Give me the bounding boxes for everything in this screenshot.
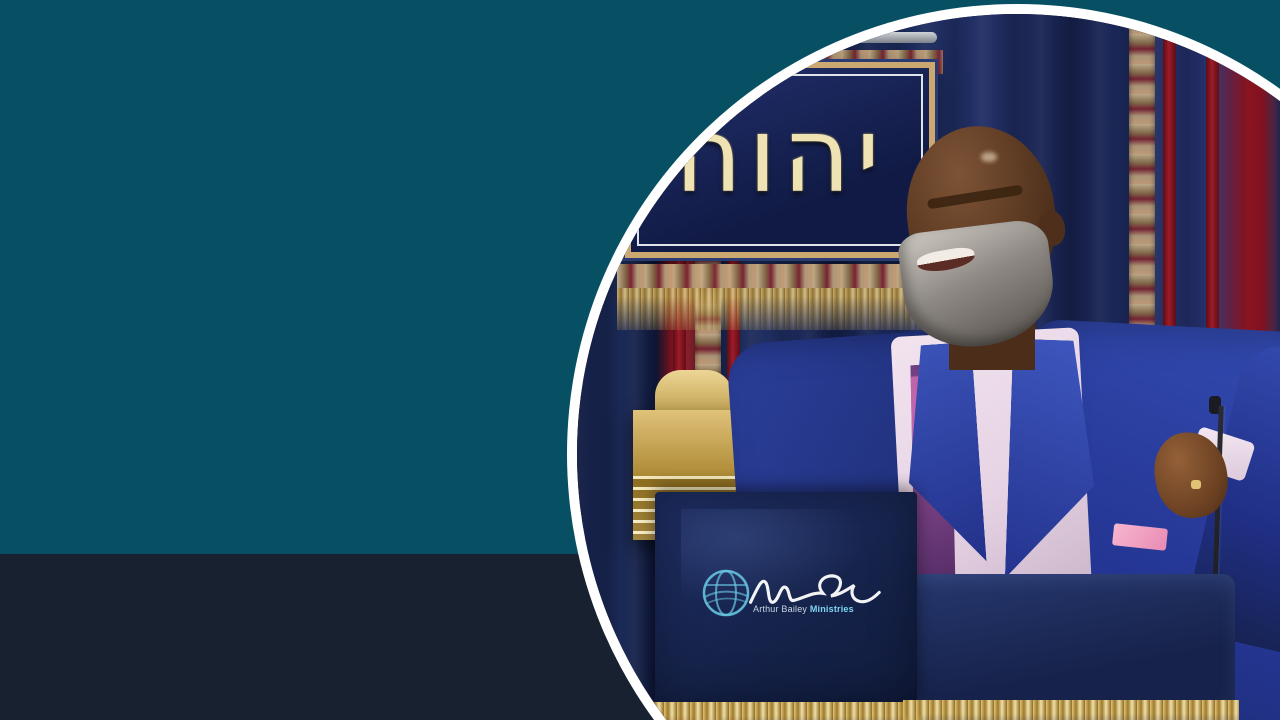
- table-fringe: [903, 700, 1239, 720]
- podium-logo: Arthur Bailey Ministries: [701, 566, 881, 630]
- podium-fringe: [651, 702, 921, 720]
- speaker-photo: יהוה: [577, 14, 1280, 720]
- globe-icon: [701, 568, 751, 618]
- podium-front: Arthur Bailey Ministries: [655, 492, 917, 704]
- podium-table: [905, 574, 1235, 704]
- footer-left-mask: [0, 554, 567, 720]
- finger-ring: [1191, 480, 1201, 489]
- podium-wordmark-highlight: Ministries: [810, 604, 854, 614]
- left-background-mask: [0, 0, 567, 554]
- head-highlight: [981, 152, 997, 162]
- podium-wordmark: Arthur Bailey Ministries: [753, 604, 854, 614]
- photo-scene: יהוה: [577, 14, 1280, 720]
- thumbnail-canvas: יהוה: [0, 0, 1280, 720]
- podium-wordmark-name: Arthur Bailey: [753, 604, 807, 614]
